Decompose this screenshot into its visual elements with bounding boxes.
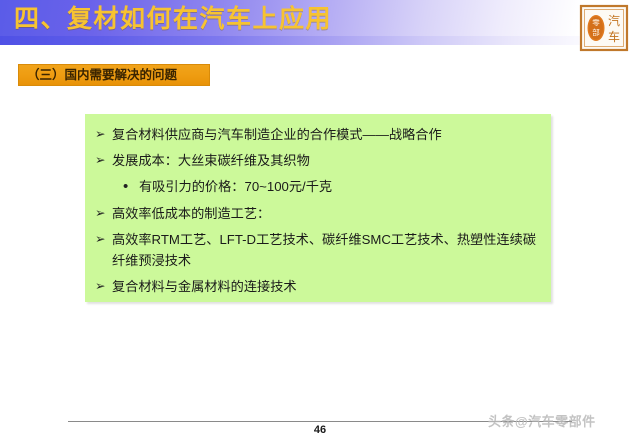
- seal-stamp-icon: 零 部 汽 车: [578, 3, 630, 53]
- arrow-bullet-icon: ➢: [95, 150, 112, 171]
- list-item-text: 高效率低成本的制造工艺：: [112, 203, 547, 224]
- section-heading-label: （三）国内需要解决的问题: [19, 65, 186, 85]
- list-item: ➢ 复合材料与金属材料的连接技术: [95, 276, 547, 297]
- presentation-slide: 四、复材如何在汽车上应用 零 部 汽 车 （三）国内需要解决的问题 ➢ 复合材料…: [0, 0, 640, 443]
- bullet-list: ➢ 复合材料供应商与汽车制造企业的合作模式——战略合作 ➢ 发展成本：大丝束碳纤…: [95, 124, 547, 302]
- list-item: ➢ 高效率低成本的制造工艺：: [95, 203, 547, 224]
- svg-text:部: 部: [592, 27, 600, 37]
- svg-text:汽: 汽: [608, 13, 620, 28]
- arrow-bullet-icon: ➢: [95, 124, 112, 145]
- list-item: ➢ 发展成本：大丝束碳纤维及其织物: [95, 150, 547, 171]
- list-item-text: 发展成本：大丝束碳纤维及其织物: [112, 150, 547, 171]
- list-item: ➢ 复合材料供应商与汽车制造企业的合作模式——战略合作: [95, 124, 547, 145]
- watermark-text: 头条@汽车零部件: [488, 411, 596, 430]
- list-item-text: 复合材料与金属材料的连接技术: [112, 276, 547, 297]
- arrow-bullet-icon: ➢: [95, 276, 112, 297]
- svg-text:零: 零: [592, 18, 600, 27]
- list-item-text: 复合材料供应商与汽车制造企业的合作模式——战略合作: [112, 124, 547, 145]
- list-item: ➢ 高效率RTM工艺、LFT-D工艺技术、碳纤维SMC工艺技术、热塑性连续碳纤维…: [95, 229, 547, 271]
- section-heading-bar: （三）国内需要解决的问题: [18, 64, 210, 86]
- arrow-bullet-icon: ➢: [95, 203, 112, 224]
- dot-bullet-icon: •: [123, 176, 139, 197]
- arrow-bullet-icon: ➢: [95, 229, 112, 250]
- list-item-text: 高效率RTM工艺、LFT-D工艺技术、碳纤维SMC工艺技术、热塑性连续碳纤维预浸…: [112, 229, 547, 271]
- slide-header: 四、复材如何在汽车上应用: [0, 0, 640, 45]
- page-title: 四、复材如何在汽车上应用: [14, 2, 332, 36]
- sub-list-item: • 有吸引力的价格：70~100元/千克: [95, 176, 547, 197]
- content-panel: ➢ 复合材料供应商与汽车制造企业的合作模式——战略合作 ➢ 发展成本：大丝束碳纤…: [85, 114, 551, 302]
- header-underline-band: [0, 36, 640, 45]
- svg-text:车: 车: [608, 29, 620, 44]
- sub-list-item-text: 有吸引力的价格：70~100元/千克: [139, 176, 547, 197]
